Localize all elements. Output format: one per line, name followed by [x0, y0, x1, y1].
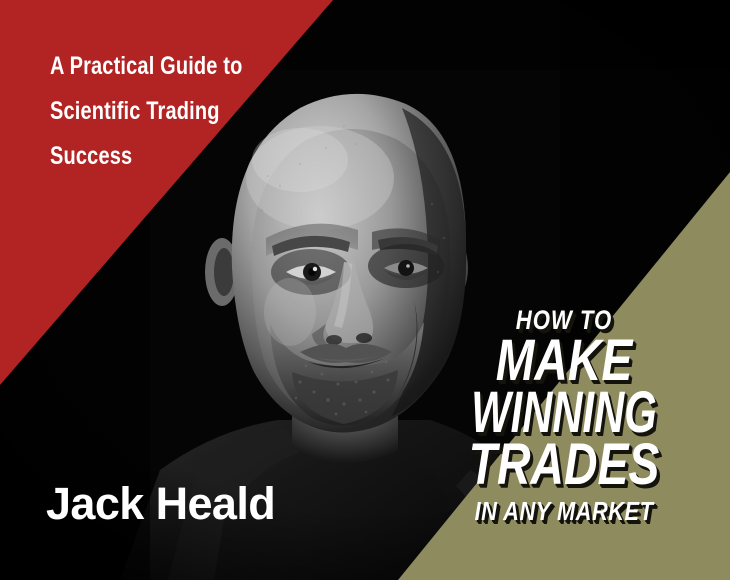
subtitle-line-1: A Practical Guide to	[50, 44, 250, 89]
title-line-trades: TRADES	[460, 439, 668, 491]
author-name: Jack Heald	[46, 478, 275, 530]
main-title-block: HOW TO MAKE WINNING TRADES IN ANY MARKET	[434, 305, 694, 531]
subtitle-line-3: Success	[50, 134, 250, 179]
subtitle-block: A Practical Guide to Scientific Trading …	[50, 44, 300, 179]
title-footer: IN ANY MARKET	[455, 491, 673, 531]
subtitle-line-2: Scientific Trading	[50, 89, 250, 134]
book-cover: A Practical Guide to Scientific Trading …	[0, 0, 730, 580]
